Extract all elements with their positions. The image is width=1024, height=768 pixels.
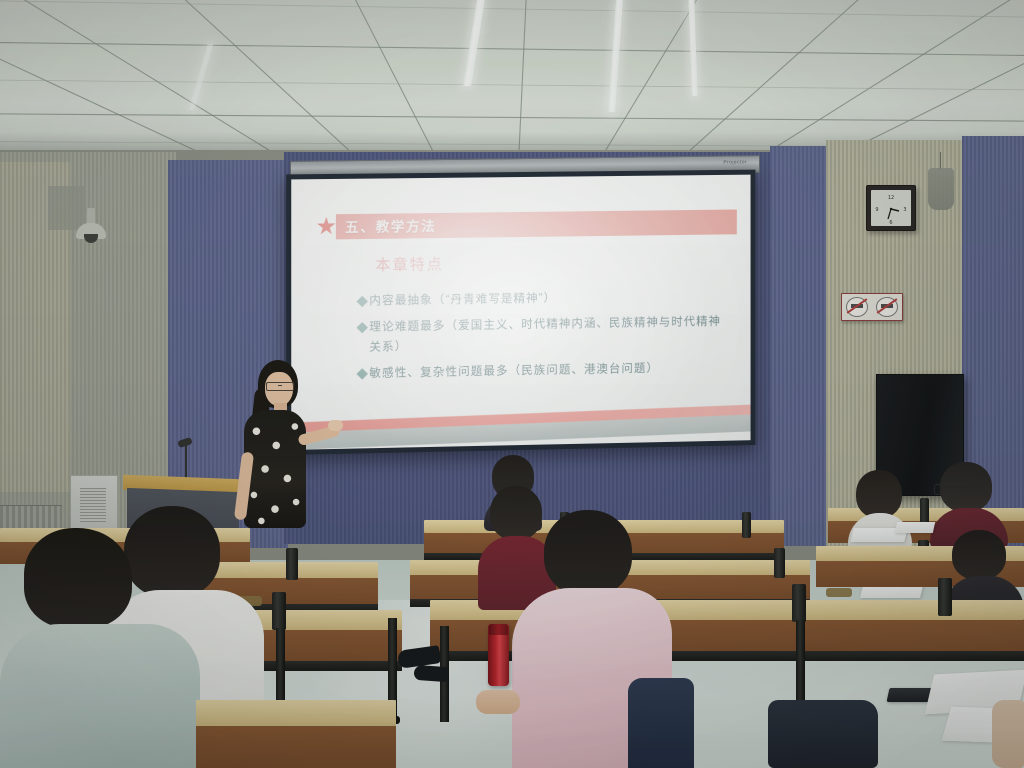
student-hand	[476, 690, 520, 714]
seat-post	[792, 584, 806, 622]
seat-post	[774, 548, 785, 578]
presenter-hand	[328, 420, 343, 431]
keys	[826, 588, 852, 597]
student-arm	[992, 700, 1024, 768]
diamond-bullet-icon	[357, 296, 368, 307]
student-head	[24, 528, 132, 628]
slide-subheading: 本章特点	[375, 253, 444, 275]
no-smoking-sign	[841, 293, 903, 321]
glasses-icon	[266, 382, 294, 391]
screen-frame: 五、教学方法 本章特点 内容最抽象（“丹青难写是精神”） 理论难题最多（爱国主义…	[286, 170, 755, 455]
backpack	[768, 700, 878, 768]
slide-title-bar: 五、教学方法	[336, 209, 737, 239]
list-item	[512, 510, 672, 768]
list-item: 内容最抽象（“丹青难写是精神”）	[358, 286, 731, 312]
student-jeans	[628, 678, 694, 768]
glasses-icon	[934, 484, 970, 495]
screen-brand-label: Projector	[723, 159, 747, 165]
svg-text:3: 3	[903, 207, 906, 213]
list-item: 敏感性、复杂性问题最多（民族问题、港澳台问题）	[358, 357, 731, 384]
bullet-text: 理论难题最多（爱国主义、时代精神内涵、民族精神与时代精神关系）	[369, 312, 731, 358]
lecture-hall-photo: 12 3 6 9 Projector 五、教学方法	[0, 0, 1024, 768]
slide-bullet-list: 内容最抽象（“丹青难写是精神”） 理论难题最多（爱国主义、时代精神内涵、民族精神…	[358, 286, 731, 390]
list-item: 理论难题最多（爱国主义、时代精神内涵、民族精神与时代精神关系）	[358, 312, 731, 358]
student-body	[0, 624, 200, 768]
notebook-papers	[895, 522, 935, 533]
clock-face-icon: 12 3 6 9	[867, 186, 915, 230]
list-item	[0, 528, 200, 768]
presentation-slide: 五、教学方法 本章特点 内容最抽象（“丹青难写是精神”） 理论难题最多（爱国主义…	[291, 175, 750, 450]
wall-clock: 12 3 6 9	[866, 185, 916, 231]
diamond-bullet-icon	[357, 322, 368, 333]
bullet-text: 内容最抽象（“丹青难写是精神”）	[369, 286, 731, 311]
shoe	[414, 665, 449, 682]
slide-section-title: 五、教学方法	[336, 215, 437, 236]
seat-post	[272, 592, 286, 630]
svg-text:12: 12	[888, 195, 894, 201]
desk-row-front	[196, 726, 396, 768]
desk-row	[196, 700, 396, 726]
svg-text:9: 9	[875, 207, 878, 213]
diamond-bullet-icon	[357, 368, 368, 379]
seat-post	[938, 578, 952, 616]
student-head	[544, 510, 632, 596]
bullet-text: 敏感性、复杂性问题最多（民族问题、港澳台问题）	[369, 357, 731, 384]
no-smoking-icon	[846, 297, 868, 317]
red-thermos	[488, 624, 509, 686]
ceiling-light-fixture-icon	[928, 168, 954, 210]
no-littering-icon	[876, 297, 898, 317]
seat-post	[742, 512, 751, 538]
seat-post	[286, 548, 298, 580]
student-head	[952, 530, 1006, 580]
red-star-icon	[317, 217, 336, 236]
microphone-stand	[185, 445, 187, 479]
student-head	[856, 470, 902, 518]
svg-text:6: 6	[889, 220, 892, 226]
slide-title-row: 五、教学方法	[317, 208, 737, 239]
seat-post	[920, 498, 929, 524]
wall-panel-right-blue-a	[770, 146, 828, 546]
dome-security-camera-icon	[76, 208, 106, 248]
speaker-grill-icon	[80, 488, 106, 522]
projector-screen: Projector 五、教学方法 本章特点 内容最抽象（“丹青难写是精神”）	[288, 158, 758, 450]
